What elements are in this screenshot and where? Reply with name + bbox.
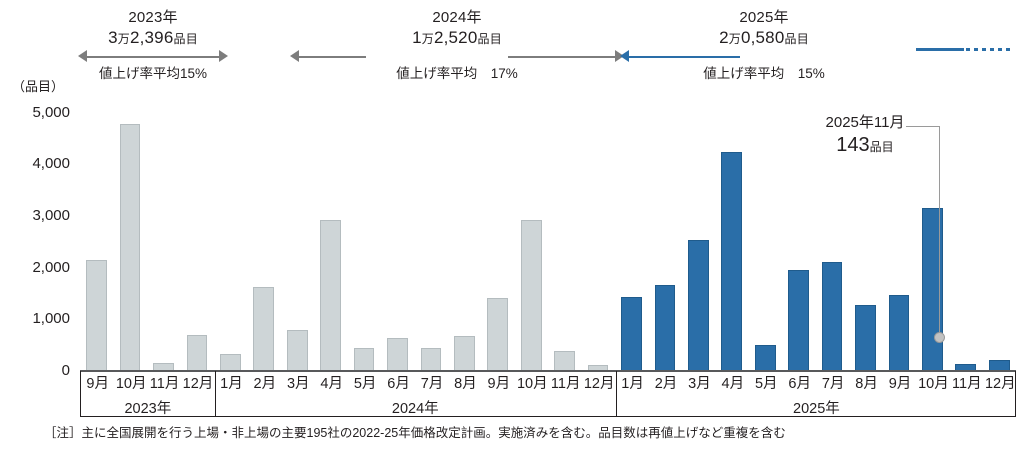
callout-leader-horizontal <box>906 126 940 127</box>
bar-2024年-7月 <box>421 348 442 371</box>
x-axis-label-band: 9月10月11月12月1月2月3月4月5月6月7月8月9月10月11月12月1月… <box>80 371 1016 417</box>
bar-2024年-6月 <box>387 338 408 371</box>
period-count-label: 2万0,580品目 <box>620 27 908 50</box>
period-rate-label: 値上げ率平均 17% <box>290 64 624 84</box>
y-axis-tick-4000: 4,000 <box>8 155 70 172</box>
x-axis-month-label: 10月 <box>114 371 147 397</box>
x-axis-month-label: 10月 <box>516 371 549 397</box>
legend-solid-segment <box>916 48 964 51</box>
period-year-label: 2025年 <box>620 8 908 27</box>
x-axis-month-label: 11月 <box>950 371 983 397</box>
callout-value: 143品目 <box>790 133 940 160</box>
x-axis-group-year-label: 2025年 <box>616 397 1017 418</box>
bar-2024年-11月 <box>554 351 575 371</box>
period-year-label: 2023年 <box>78 8 228 27</box>
x-axis-month-label: 12月 <box>582 371 615 397</box>
y-axis-tick-0: 0 <box>8 362 70 379</box>
bar-2025年-9月 <box>889 295 910 371</box>
x-axis-month-label: 2月 <box>649 371 682 397</box>
bar-2025年-3月 <box>688 240 709 371</box>
x-axis-month-label: 9月 <box>482 371 515 397</box>
x-axis-group-year-label: 2024年 <box>215 397 616 418</box>
y-axis-tick-3000: 3,000 <box>8 207 70 224</box>
x-axis-month-label: 7月 <box>816 371 849 397</box>
bar-2024年-3月 <box>287 330 308 371</box>
x-axis-month-label: 11月 <box>549 371 582 397</box>
footnote-text: ［注］主に全国展開を行う上場・非上場の主要195社の2022-25年価格改定計画… <box>44 425 786 441</box>
x-axis-month-label: 5月 <box>750 371 783 397</box>
period-rate-label: 値上げ率平均 15% <box>620 64 908 84</box>
callout-leader-endpoint-dot <box>934 332 945 343</box>
x-axis-month-label: 4月 <box>716 371 749 397</box>
callout-title: 2025年11月 <box>790 112 940 133</box>
price-increase-bar-chart: 2023年 3万2,396品目 値上げ率平均15% 2024年 1万2,520品… <box>0 0 1024 465</box>
period-arrow-2025 <box>620 50 908 64</box>
x-axis-month-label: 8月 <box>449 371 482 397</box>
x-axis-month-label: 12月 <box>984 371 1017 397</box>
bar-2024年-9月 <box>487 298 508 371</box>
arrow-shaft <box>86 56 220 58</box>
period-annotation-2023: 2023年 3万2,396品目 値上げ率平均15% <box>78 8 228 84</box>
y-axis-tick-1000: 1,000 <box>8 310 70 327</box>
callout-leader-vertical <box>939 126 940 337</box>
x-axis-month-label: 2月 <box>248 371 281 397</box>
bar-2025年-5月 <box>755 345 776 371</box>
bar-2024年-1月 <box>220 354 241 371</box>
x-axis-month-label: 1月 <box>616 371 649 397</box>
legend-dotted-segment <box>966 48 1014 51</box>
x-axis-month-label: 12月 <box>181 371 214 397</box>
bar-2023年-9月 <box>86 260 107 371</box>
x-axis-month-label: 4月 <box>315 371 348 397</box>
legend-projection-line <box>916 44 1016 56</box>
bar-2024年-8月 <box>454 336 475 371</box>
arrow-head-right-icon <box>219 50 228 62</box>
bar-2025年-1月 <box>621 297 642 371</box>
bar-2024年-4月 <box>320 220 341 371</box>
bar-2025年-4月 <box>721 152 742 371</box>
arrow-shaft-right <box>508 56 616 58</box>
x-axis-month-label: 9月 <box>81 371 114 397</box>
callout-2025-november: 2025年11月 143品目 <box>790 112 940 160</box>
bar-2025年-7月 <box>822 262 843 371</box>
bar-2023年-12月 <box>187 335 208 371</box>
period-annotation-2024: 2024年 1万2,520品目 値上げ率平均 17% <box>290 8 624 84</box>
x-axis-month-label: 6月 <box>783 371 816 397</box>
y-axis-unit-label: （品目） <box>12 76 64 95</box>
x-axis-month-label: 10月 <box>917 371 950 397</box>
bar-2025年-2月 <box>655 285 676 371</box>
x-axis-month-label: 5月 <box>348 371 381 397</box>
x-axis-month-label: 8月 <box>850 371 883 397</box>
bar-2024年-2月 <box>253 287 274 371</box>
period-arrow-2024 <box>290 50 624 64</box>
y-axis-tick-5000: 5,000 <box>8 104 70 121</box>
period-annotation-2025: 2025年 2万0,580品目 値上げ率平均 15% <box>620 8 908 84</box>
period-rate-label: 値上げ率平均15% <box>78 64 228 84</box>
x-axis-month-label: 1月 <box>215 371 248 397</box>
arrow-shaft-left <box>298 56 366 58</box>
x-axis-month-label: 9月 <box>883 371 916 397</box>
x-axis-month-label: 6月 <box>382 371 415 397</box>
bar-2023年-10月 <box>120 124 141 371</box>
x-axis-month-label: 11月 <box>148 371 181 397</box>
bar-2024年-5月 <box>354 348 375 371</box>
x-axis-group-year-label: 2023年 <box>81 397 215 418</box>
bar-2024年-10月 <box>521 220 542 371</box>
bar-2025年-6月 <box>788 270 809 371</box>
bar-2025年-8月 <box>855 305 876 371</box>
period-year-label: 2024年 <box>290 8 624 27</box>
period-count-label: 1万2,520品目 <box>290 27 624 50</box>
period-arrow-2023 <box>78 50 228 64</box>
x-axis-month-label: 7月 <box>415 371 448 397</box>
x-axis-month-label: 3月 <box>282 371 315 397</box>
y-axis-tick-2000: 2,000 <box>8 259 70 276</box>
arrow-shaft <box>628 56 740 58</box>
period-count-label: 3万2,396品目 <box>78 27 228 50</box>
x-axis-month-label: 3月 <box>683 371 716 397</box>
